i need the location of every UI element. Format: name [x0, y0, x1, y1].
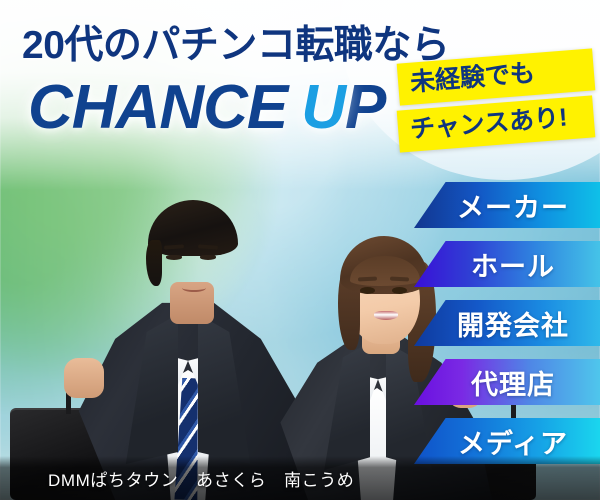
businessman-eye-left [166, 255, 182, 260]
category-label: メーカー [445, 186, 569, 225]
businesswoman-eye-left [360, 287, 375, 294]
category-item-maker[interactable]: メーカー [414, 182, 600, 228]
businesswoman-mouth [374, 311, 398, 320]
category-label: メディア [446, 422, 568, 461]
logo-letter-p: P [345, 73, 385, 142]
caption-bar: DMMぱちタウン あさくら 南こうめ [0, 456, 600, 500]
businesswoman-eye-right [392, 287, 407, 294]
promo-badge-line-2: チャンスあり! [397, 95, 596, 152]
logo-letter-u: U [301, 73, 345, 142]
logo-word-up: UP [301, 73, 385, 142]
businessman-hand [64, 358, 104, 398]
category-item-hall[interactable]: ホール [414, 241, 600, 287]
logo-word-chance: CHANCE [28, 73, 287, 142]
headline-text: 20代のパチンコ転職なら [22, 14, 449, 70]
category-item-development-company[interactable]: 開発会社 [414, 300, 600, 346]
category-label: 開発会社 [445, 304, 569, 343]
caption-text: DMMぱちタウン あさくら 南こうめ [0, 466, 354, 491]
businessman-eye-right [200, 255, 216, 260]
category-label: 代理店 [459, 363, 555, 402]
businessman-mouth [182, 284, 206, 292]
category-list: メーカー ホール 開発会社 代理店 メディア [414, 182, 600, 477]
promo-badge: 未経験でも チャンスあり! [398, 56, 594, 145]
businessman-hair-side [146, 240, 162, 286]
banner-advertisement: 20代のパチンコ転職なら CHANCEUP 未経験でも チャンスあり! メーカー… [0, 0, 600, 500]
chance-up-logo: CHANCEUP [28, 72, 385, 143]
category-label: ホール [459, 245, 555, 284]
category-item-agency[interactable]: 代理店 [414, 359, 600, 405]
